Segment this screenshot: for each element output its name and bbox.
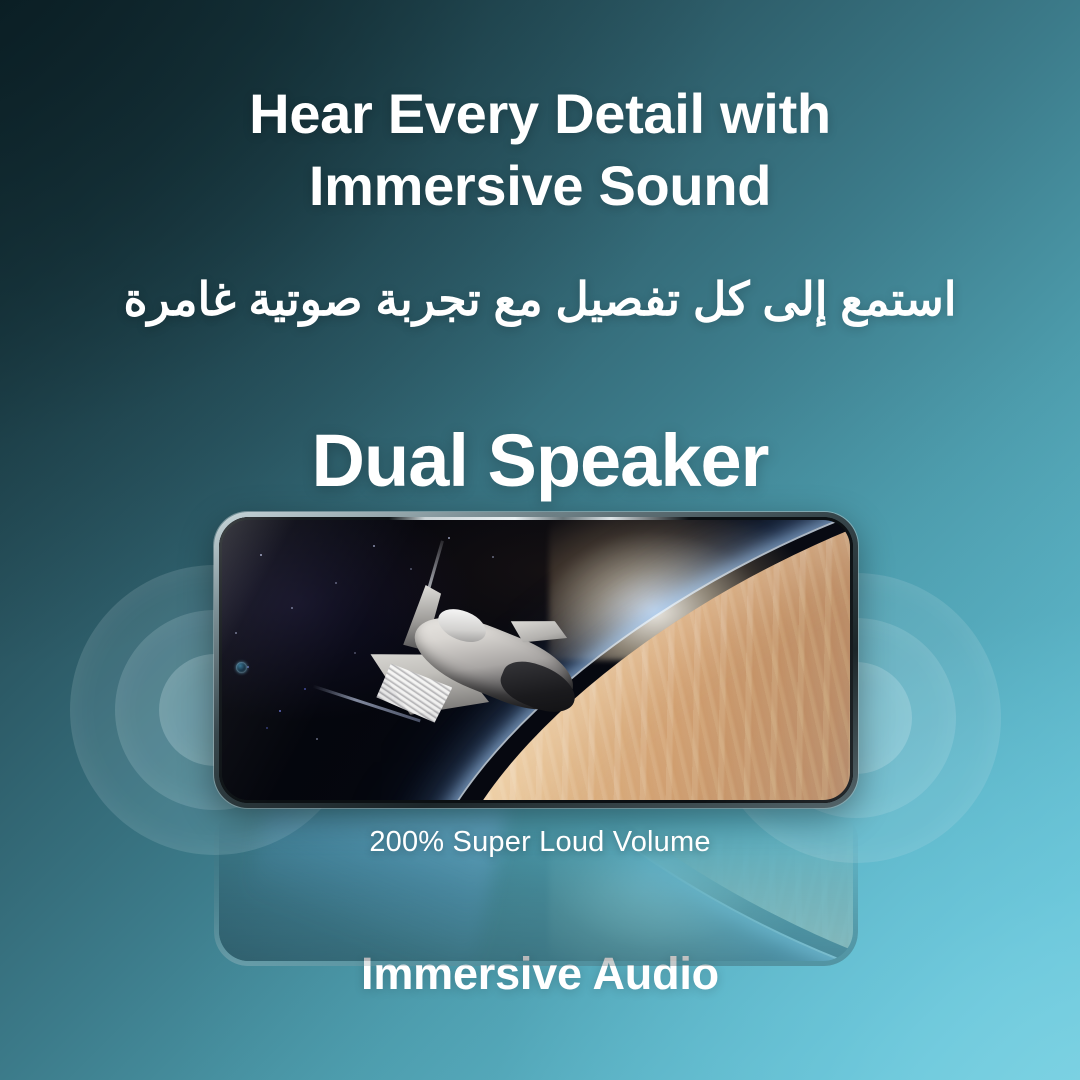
promo-banner: Hear Every Detail with Immersive Sound ا… [0, 0, 1080, 1080]
earpiece-highlight [389, 517, 689, 520]
phone-screen[interactable] [222, 520, 850, 800]
headline-arabic: استمع إلى كل تفصيل مع تجربة صوتية غامرة [0, 268, 1080, 330]
feature-title: Dual Speaker [0, 424, 1080, 498]
space-shuttle [360, 582, 586, 744]
volume-caption: 200% Super Loud Volume [0, 826, 1080, 859]
front-camera-icon [236, 662, 247, 673]
phone-device [214, 512, 858, 808]
phone-bezel [219, 517, 853, 803]
headline: Hear Every Detail with Immersive Sound [0, 78, 1080, 221]
